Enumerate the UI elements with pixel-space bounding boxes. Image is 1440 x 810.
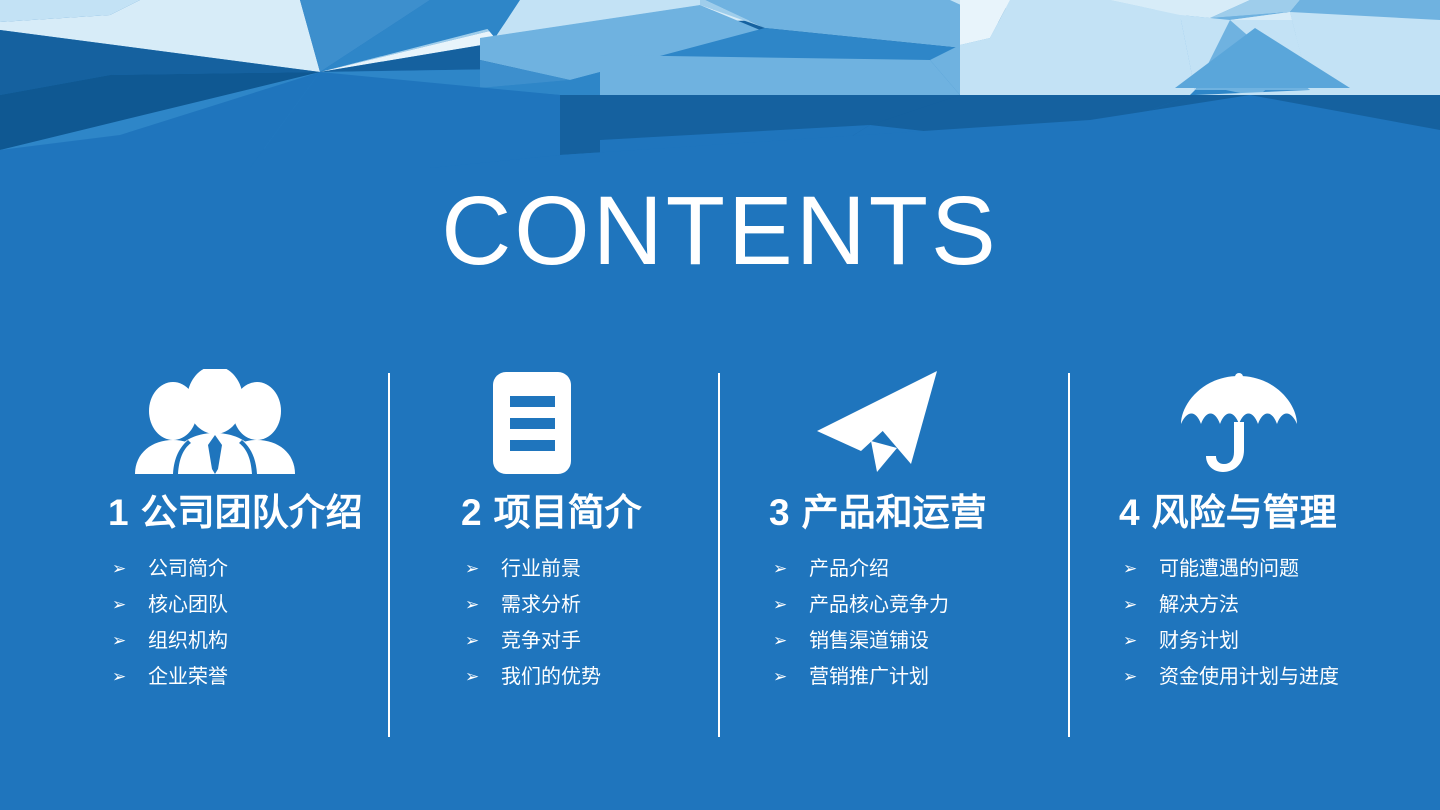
column-number-2: 2 [461, 492, 482, 533]
list-item-label: 行业前景 [501, 559, 581, 579]
umbrella-icon [1119, 362, 1440, 474]
list-item[interactable]: ➢营销推广计划 [769, 659, 1069, 695]
list-item[interactable]: ➢解决方法 [1119, 587, 1440, 623]
list-item[interactable]: ➢公司简介 [108, 551, 389, 587]
people-group-icon [108, 362, 389, 474]
chevron-bullet-icon: ➢ [461, 560, 501, 577]
chevron-bullet-icon: ➢ [461, 668, 501, 685]
contents-column-2[interactable]: 2项目简介 ➢行业前景 ➢需求分析 ➢竞争对手 ➢我们的优势 [389, 362, 719, 752]
list-item-label: 资金使用计划与进度 [1159, 667, 1339, 687]
chevron-bullet-icon: ➢ [108, 632, 148, 649]
chevron-bullet-icon: ➢ [769, 596, 809, 613]
chevron-bullet-icon: ➢ [1119, 668, 1159, 685]
chevron-bullet-icon: ➢ [108, 596, 148, 613]
contents-columns: 1公司团队介绍 ➢公司简介 ➢核心团队 ➢组织机构 ➢企业荣誉 2项目简介 [0, 362, 1440, 752]
paper-plane-icon [769, 362, 1069, 474]
column-number-1: 1 [108, 492, 129, 533]
list-item-label: 销售渠道铺设 [809, 631, 929, 651]
list-item-label: 产品核心竞争力 [809, 595, 949, 615]
list-item[interactable]: ➢我们的优势 [461, 659, 719, 695]
chevron-bullet-icon: ➢ [769, 668, 809, 685]
low-poly-header-graphic [0, 0, 1440, 168]
list-item[interactable]: ➢资金使用计划与进度 [1119, 659, 1440, 695]
document-lines-icon [461, 362, 719, 474]
column-heading-2: 2项目简介 [461, 492, 719, 535]
column-heading-3: 3产品和运营 [769, 492, 1069, 535]
column-bullets-4: ➢可能遭遇的问题 ➢解决方法 ➢财务计划 ➢资金使用计划与进度 [1119, 551, 1440, 695]
list-item-label: 企业荣誉 [148, 667, 228, 687]
list-item-label: 财务计划 [1159, 631, 1239, 651]
column-title-3: 产品和运营 [802, 492, 987, 533]
chevron-bullet-icon: ➢ [1119, 632, 1159, 649]
list-item[interactable]: ➢核心团队 [108, 587, 389, 623]
column-title-1: 公司团队介绍 [141, 492, 363, 533]
list-item-label: 公司简介 [148, 559, 228, 579]
column-bullets-3: ➢产品介绍 ➢产品核心竞争力 ➢销售渠道铺设 ➢营销推广计划 [769, 551, 1069, 695]
chevron-bullet-icon: ➢ [461, 596, 501, 613]
column-bullets-1: ➢公司简介 ➢核心团队 ➢组织机构 ➢企业荣誉 [108, 551, 389, 695]
list-item[interactable]: ➢组织机构 [108, 623, 389, 659]
column-heading-4: 4风险与管理 [1119, 492, 1440, 535]
contents-column-1[interactable]: 1公司团队介绍 ➢公司简介 ➢核心团队 ➢组织机构 ➢企业荣誉 [0, 362, 389, 752]
contents-column-3[interactable]: 3产品和运营 ➢产品介绍 ➢产品核心竞争力 ➢销售渠道铺设 ➢营销推广计划 [719, 362, 1069, 752]
chevron-bullet-icon: ➢ [461, 632, 501, 649]
list-item[interactable]: ➢竞争对手 [461, 623, 719, 659]
list-item[interactable]: ➢产品介绍 [769, 551, 1069, 587]
list-item[interactable]: ➢可能遭遇的问题 [1119, 551, 1440, 587]
column-number-4: 4 [1119, 492, 1140, 533]
contents-column-4[interactable]: 4风险与管理 ➢可能遭遇的问题 ➢解决方法 ➢财务计划 ➢资金使用计划与进度 [1069, 362, 1440, 752]
list-item-label: 组织机构 [148, 631, 228, 651]
chevron-bullet-icon: ➢ [769, 632, 809, 649]
column-bullets-2: ➢行业前景 ➢需求分析 ➢竞争对手 ➢我们的优势 [461, 551, 719, 695]
list-item-label: 需求分析 [501, 595, 581, 615]
list-item[interactable]: ➢企业荣誉 [108, 659, 389, 695]
list-item-label: 我们的优势 [501, 667, 601, 687]
list-item[interactable]: ➢行业前景 [461, 551, 719, 587]
chevron-bullet-icon: ➢ [108, 560, 148, 577]
column-heading-1: 1公司团队介绍 [108, 492, 389, 535]
list-item-label: 可能遭遇的问题 [1159, 559, 1299, 579]
chevron-bullet-icon: ➢ [769, 560, 809, 577]
list-item-label: 核心团队 [148, 595, 228, 615]
list-item-label: 竞争对手 [501, 631, 581, 651]
page-title: CONTENTS [0, 182, 1440, 279]
list-item[interactable]: ➢销售渠道铺设 [769, 623, 1069, 659]
column-title-4: 风险与管理 [1152, 492, 1337, 533]
list-item-label: 营销推广计划 [809, 667, 929, 687]
column-number-3: 3 [769, 492, 790, 533]
contents-slide: CONTENTS [0, 0, 1440, 810]
list-item-label: 解决方法 [1159, 595, 1239, 615]
list-item[interactable]: ➢产品核心竞争力 [769, 587, 1069, 623]
chevron-bullet-icon: ➢ [1119, 596, 1159, 613]
list-item[interactable]: ➢需求分析 [461, 587, 719, 623]
column-title-2: 项目简介 [494, 492, 642, 533]
list-item[interactable]: ➢财务计划 [1119, 623, 1440, 659]
list-item-label: 产品介绍 [809, 559, 889, 579]
chevron-bullet-icon: ➢ [1119, 560, 1159, 577]
chevron-bullet-icon: ➢ [108, 668, 148, 685]
